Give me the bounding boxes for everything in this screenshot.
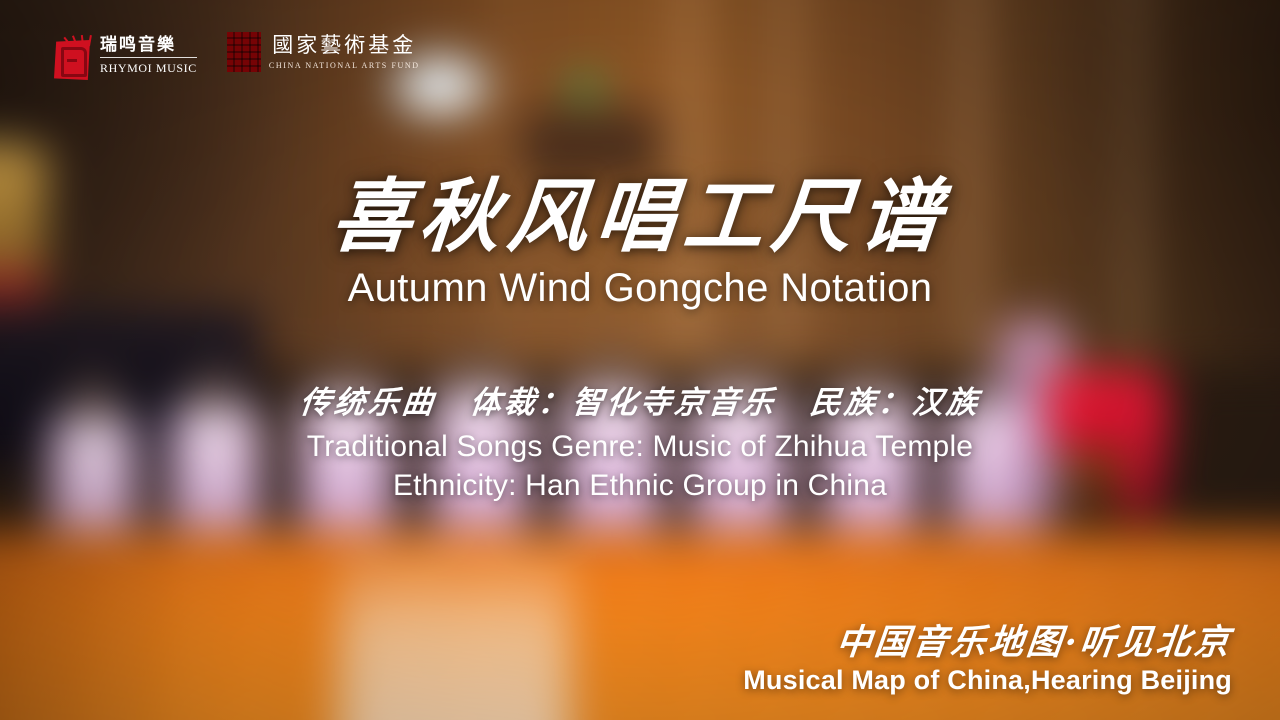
page-title-cn: 喜秋风唱工尺谱 xyxy=(0,176,1280,256)
rhymoi-name-cn: 瑞鸣音樂 xyxy=(100,36,197,58)
rhymoi-name-en: RHYMOI MUSIC xyxy=(100,61,197,76)
vignette-overlay xyxy=(0,0,1280,720)
metadata-block: 传统乐曲 体裁：智化寺京音乐 民族：汉族 Traditional Songs G… xyxy=(0,384,1280,505)
background-photo xyxy=(0,0,1280,720)
title-block: 喜秋风唱工尺谱 Autumn Wind Gongche Notation xyxy=(0,176,1280,311)
series-name-cn: 中国音乐地图·听见北京 xyxy=(741,623,1234,663)
rhymoi-music-logo: 瑞鸣音樂 RHYMOI MUSIC xyxy=(54,32,197,80)
metadata-en-line1: Traditional Songs Genre: Music of Zhihua… xyxy=(0,427,1280,466)
arts-fund-name-en: CHINA NATIONAL ARTS FUND xyxy=(269,61,420,70)
metadata-en-line2: Ethnicity: Han Ethnic Group in China xyxy=(0,466,1280,505)
series-name-en: Musical Map of China,Hearing Beijing xyxy=(743,665,1232,696)
china-national-arts-fund-logo: 國家藝術基金 CHINA NATIONAL ARTS FUND xyxy=(227,32,420,72)
rhymoi-wordmark: 瑞鸣音樂 RHYMOI MUSIC xyxy=(100,36,197,76)
metadata-cn: 传统乐曲 体裁：智化寺京音乐 民族：汉族 xyxy=(0,384,1280,423)
arts-fund-name-cn: 國家藝術基金 xyxy=(269,34,420,56)
video-title-card: 瑞鸣音樂 RHYMOI MUSIC 國家藝術基金 CHINA NATIONAL … xyxy=(0,0,1280,720)
rhymoi-seal-icon xyxy=(54,32,92,80)
sponsor-logo-bar: 瑞鸣音樂 RHYMOI MUSIC 國家藝術基金 CHINA NATIONAL … xyxy=(54,32,420,80)
chinese-seal-icon xyxy=(227,32,261,72)
page-title-en: Autumn Wind Gongche Notation xyxy=(0,266,1280,311)
arts-fund-wordmark: 國家藝術基金 CHINA NATIONAL ARTS FUND xyxy=(269,34,420,69)
series-branding: 中国音乐地图·听见北京 Musical Map of China,Hearing… xyxy=(743,623,1232,696)
